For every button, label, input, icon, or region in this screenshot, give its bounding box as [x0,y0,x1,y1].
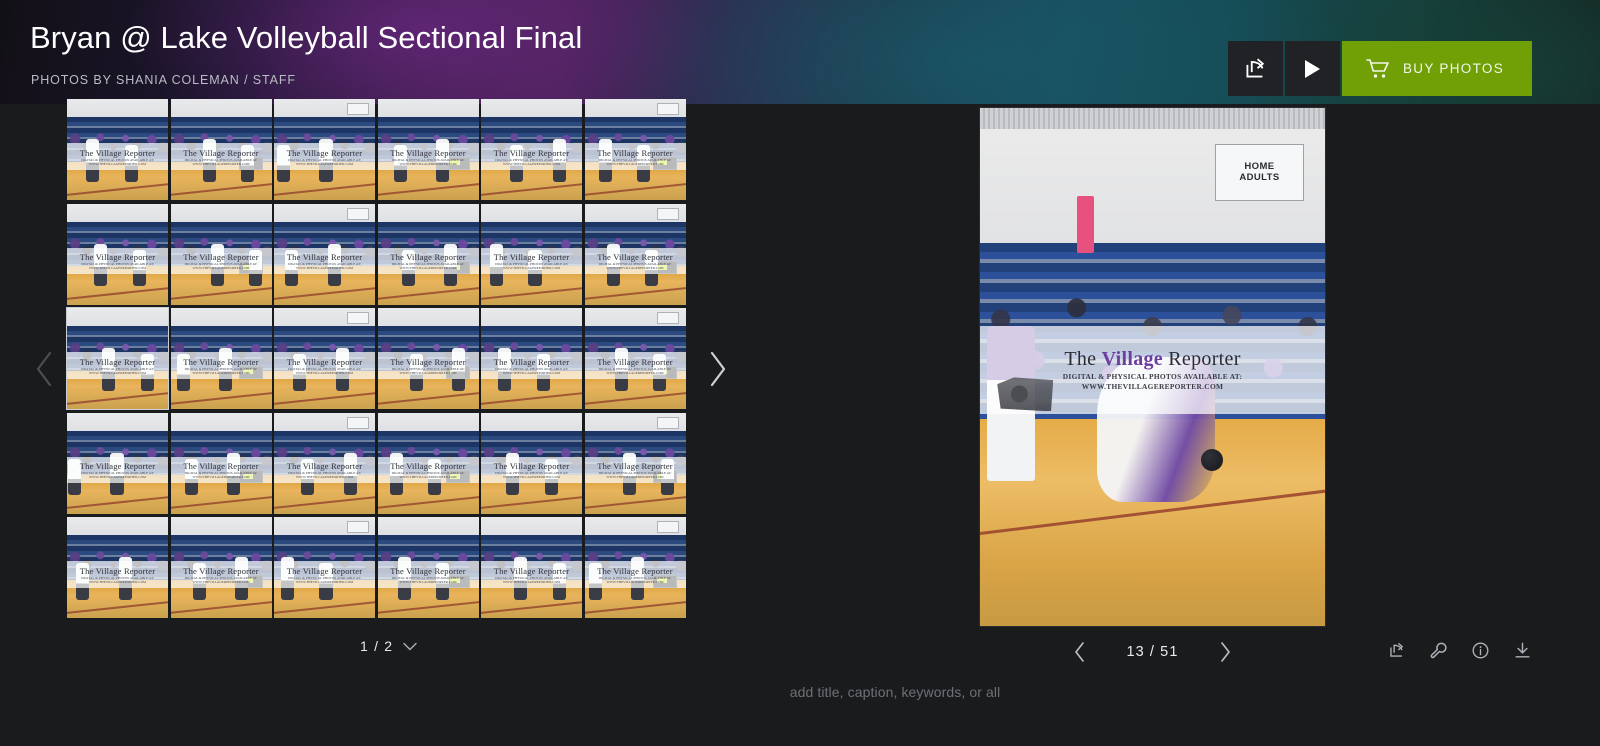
thumbnail-watermark-title: The Village Reporter [80,252,156,262]
thumbnail-watermark-line-2: WWW.THEVILLAGEREPORTER.COM [192,475,249,479]
thumbnail-watermark: The Village ReporterDIGITAL & PHYSICAL P… [274,248,375,274]
thumbnail-watermark: The Village ReporterDIGITAL & PHYSICAL P… [171,352,272,378]
thumbnail-watermark-title: The Village Reporter [597,461,673,471]
thumbnail-23[interactable]: The Village ReporterDIGITAL & PHYSICAL P… [481,413,582,514]
thumbnail-6[interactable]: The Village ReporterDIGITAL & PHYSICAL P… [585,99,686,200]
thumbnail-watermark: The Village ReporterDIGITAL & PHYSICAL P… [378,143,479,169]
header-actions: BUY PHOTOS [1228,41,1532,96]
thumbnail-watermark-line-2: WWW.THEVILLAGEREPORTER.COM [399,266,456,270]
buy-photos-button[interactable]: BUY PHOTOS [1342,41,1532,96]
buy-photos-label: BUY PHOTOS [1403,61,1504,76]
thumbnail-watermark-line-2: WWW.THEVILLAGEREPORTER.COM [503,580,560,584]
thumbnail-watermark: The Village ReporterDIGITAL & PHYSICAL P… [378,457,479,483]
thumbnail-watermark: The Village ReporterDIGITAL & PHYSICAL P… [585,561,686,587]
thumbnail-watermark-title: The Village Reporter [80,148,156,158]
photo-counter: 13 / 51 [1126,644,1178,660]
thumbnail-watermark: The Village ReporterDIGITAL & PHYSICAL P… [67,248,168,274]
thumbnail-watermark: The Village ReporterDIGITAL & PHYSICAL P… [67,457,168,483]
thumbnail-3[interactable]: The Village ReporterDIGITAL & PHYSICAL P… [274,99,375,200]
thumbnail-2[interactable]: The Village ReporterDIGITAL & PHYSICAL P… [171,99,272,200]
thumbnail-watermark-line-2: WWW.THEVILLAGEREPORTER.COM [503,371,560,375]
caption-input[interactable]: add title, caption, keywords, or all [0,684,1600,700]
thumbnail-28[interactable]: The Village ReporterDIGITAL & PHYSICAL P… [378,517,479,618]
thumbnail-watermark-line-2: WWW.THEVILLAGEREPORTER.COM [296,371,353,375]
thumbnail-21[interactable]: The Village ReporterDIGITAL & PHYSICAL P… [274,413,375,514]
thumbnail-watermark: The Village ReporterDIGITAL & PHYSICAL P… [585,457,686,483]
thumbnail-watermark-line-2: WWW.THEVILLAGEREPORTER.COM [399,371,456,375]
thumbnail-watermark-line-2: WWW.THEVILLAGEREPORTER.COM [296,162,353,166]
thumbnail-26[interactable]: The Village ReporterDIGITAL & PHYSICAL P… [171,517,272,618]
thumbnail-watermark-title: The Village Reporter [494,148,570,158]
thumbnail-11[interactable]: The Village ReporterDIGITAL & PHYSICAL P… [481,204,582,305]
thumbnail-watermark-title: The Village Reporter [287,357,363,367]
thumbnail-watermark-line-2: WWW.THEVILLAGEREPORTER.COM [296,475,353,479]
thumbnail-watermark-line-2: WWW.THEVILLAGEREPORTER.COM [606,162,663,166]
grid-prev-page-arrow[interactable] [28,347,62,391]
grid-pager[interactable]: 1 / 2 [360,638,417,654]
sign-line-2: ADULTS [1239,173,1279,184]
thumbnail-watermark-title: The Village Reporter [494,461,570,471]
thumbnail-watermark-title: The Village Reporter [183,252,259,262]
thumbnail-watermark-line-2: WWW.THEVILLAGEREPORTER.COM [192,266,249,270]
share-icon[interactable] [1386,640,1406,660]
thumbnail-watermark-title: The Village Reporter [183,461,259,471]
gallery-page: Bryan @ Lake Volleyball Sectional Final … [0,0,1600,746]
thumbnail-9[interactable]: The Village ReporterDIGITAL & PHYSICAL P… [274,204,375,305]
main-photo[interactable]: HOME ADULTS The Village Reporter DIGITAL… [980,108,1325,626]
info-icon[interactable] [1470,640,1490,660]
thumbnail-watermark-line-2: WWW.THEVILLAGEREPORTER.COM [606,475,663,479]
thumbnail-watermark-line-2: WWW.THEVILLAGEREPORTER.COM [192,580,249,584]
thumbnail-27[interactable]: The Village ReporterDIGITAL & PHYSICAL P… [274,517,375,618]
watermark-logo-icon [997,377,1053,411]
thumbnail-watermark-title: The Village Reporter [597,252,673,262]
thumbnail-20[interactable]: The Village ReporterDIGITAL & PHYSICAL P… [171,413,272,514]
photo-gym-ceiling [980,108,1325,129]
watermark-line-1: DIGITAL & PHYSICAL PHOTOS AVAILABLE AT: [1063,372,1242,381]
watermark-line-2: WWW.THEVILLAGEREPORTER.COM [1082,382,1224,391]
thumbnail-watermark: The Village ReporterDIGITAL & PHYSICAL P… [274,143,375,169]
thumbnail-watermark-line-2: WWW.THEVILLAGEREPORTER.COM [606,580,663,584]
thumbnail-watermark: The Village ReporterDIGITAL & PHYSICAL P… [481,561,582,587]
thumbnail-watermark: The Village ReporterDIGITAL & PHYSICAL P… [274,352,375,378]
thumbnail-watermark-title: The Village Reporter [80,357,156,367]
grid-pager-label: 1 / 2 [360,638,393,654]
thumbnail-watermark-line-2: WWW.THEVILLAGEREPORTER.COM [89,266,146,270]
thumbnail-watermark: The Village ReporterDIGITAL & PHYSICAL P… [274,561,375,587]
thumbnail-watermark-title: The Village Reporter [390,461,466,471]
thumbnail-watermark-title: The Village Reporter [390,148,466,158]
thumbnail-watermark-title: The Village Reporter [390,252,466,262]
thumbnail-watermark-line-2: WWW.THEVILLAGEREPORTER.COM [89,371,146,375]
thumbnail-29[interactable]: The Village ReporterDIGITAL & PHYSICAL P… [481,517,582,618]
thumbnail-16[interactable]: The Village ReporterDIGITAL & PHYSICAL P… [378,308,479,409]
thumbnail-18[interactable]: The Village ReporterDIGITAL & PHYSICAL P… [585,308,686,409]
thumbnail-10[interactable]: The Village ReporterDIGITAL & PHYSICAL P… [378,204,479,305]
thumbnail-watermark-title: The Village Reporter [287,566,363,576]
thumbnail-30[interactable]: The Village ReporterDIGITAL & PHYSICAL P… [585,517,686,618]
thumbnail-5[interactable]: The Village ReporterDIGITAL & PHYSICAL P… [481,99,582,200]
watermark-title-pre: The [1064,348,1101,370]
thumbnail-watermark-title: The Village Reporter [183,357,259,367]
watermark-title-accent: Village [1102,348,1163,370]
shopping-cart-icon [1366,58,1390,79]
thumbnail-watermark: The Village ReporterDIGITAL & PHYSICAL P… [67,561,168,587]
thumbnail-watermark: The Village ReporterDIGITAL & PHYSICAL P… [378,561,479,587]
thumbnail-4[interactable]: The Village ReporterDIGITAL & PHYSICAL P… [378,99,479,200]
photo-prev-button[interactable] [1070,641,1091,663]
thumbnail-watermark: The Village ReporterDIGITAL & PHYSICAL P… [67,352,168,378]
thumbnail-watermark-title: The Village Reporter [494,357,570,367]
thumbnail-15[interactable]: The Village ReporterDIGITAL & PHYSICAL P… [274,308,375,409]
thumbnail-watermark: The Village ReporterDIGITAL & PHYSICAL P… [67,143,168,169]
share-button[interactable] [1228,41,1283,96]
thumbnail-watermark-title: The Village Reporter [390,357,466,367]
thumbnail-watermark: The Village ReporterDIGITAL & PHYSICAL P… [481,352,582,378]
thumbnail-watermark-line-2: WWW.THEVILLAGEREPORTER.COM [606,371,663,375]
photo-tools [1386,640,1532,660]
thumbnail-watermark-line-2: WWW.THEVILLAGEREPORTER.COM [296,580,353,584]
thumbnail-13[interactable]: The Village ReporterDIGITAL & PHYSICAL P… [67,308,168,409]
thumbnail-1[interactable]: The Village ReporterDIGITAL & PHYSICAL P… [67,99,168,200]
slideshow-play-button[interactable] [1285,41,1340,96]
thumbnail-7[interactable]: The Village ReporterDIGITAL & PHYSICAL P… [67,204,168,305]
thumbnail-watermark: The Village ReporterDIGITAL & PHYSICAL P… [378,352,479,378]
photo-volleyball [1201,449,1223,471]
thumbnail-watermark-title: The Village Reporter [287,148,363,158]
thumbnail-watermark-line-2: WWW.THEVILLAGEREPORTER.COM [192,371,249,375]
page-byline: PHOTOS BY SHANIA COLEMAN / STAFF [31,73,296,87]
thumbnail-watermark: The Village ReporterDIGITAL & PHYSICAL P… [481,143,582,169]
thumbnail-12[interactable]: The Village ReporterDIGITAL & PHYSICAL P… [585,204,686,305]
thumbnail-watermark: The Village ReporterDIGITAL & PHYSICAL P… [171,143,272,169]
watermark-title: The Village Reporter [1064,348,1240,371]
watermark-title-post: Reporter [1163,348,1241,370]
photo-navigation: 13 / 51 [1070,638,1235,666]
thumbnail-watermark-line-2: WWW.THEVILLAGEREPORTER.COM [606,266,663,270]
thumbnail-watermark: The Village ReporterDIGITAL & PHYSICAL P… [171,248,272,274]
thumbnail-watermark-title: The Village Reporter [494,566,570,576]
thumbnail-24[interactable]: The Village ReporterDIGITAL & PHYSICAL P… [585,413,686,514]
thumbnail-watermark-title: The Village Reporter [597,357,673,367]
thumbnail-watermark-line-2: WWW.THEVILLAGEREPORTER.COM [89,580,146,584]
thumbnail-watermark-title: The Village Reporter [494,252,570,262]
grid-next-page-arrow[interactable] [700,347,734,391]
thumbnail-watermark-title: The Village Reporter [80,566,156,576]
thumbnail-watermark-line-2: WWW.THEVILLAGEREPORTER.COM [89,162,146,166]
wrench-icon[interactable] [1428,640,1448,660]
thumbnail-watermark-line-2: WWW.THEVILLAGEREPORTER.COM [89,475,146,479]
thumbnail-watermark: The Village ReporterDIGITAL & PHYSICAL P… [274,457,375,483]
thumbnail-watermark-line-2: WWW.THEVILLAGEREPORTER.COM [503,162,560,166]
thumbnail-watermark-line-2: WWW.THEVILLAGEREPORTER.COM [503,266,560,270]
thumbnail-19[interactable]: The Village ReporterDIGITAL & PHYSICAL P… [67,413,168,514]
photo-next-button[interactable] [1214,641,1235,663]
share-icon [1242,56,1268,82]
thumbnail-watermark-line-2: WWW.THEVILLAGEREPORTER.COM [296,266,353,270]
thumbnail-watermark: The Village ReporterDIGITAL & PHYSICAL P… [171,457,272,483]
thumbnail-watermark-line-2: WWW.THEVILLAGEREPORTER.COM [399,580,456,584]
page-header: Bryan @ Lake Volleyball Sectional Final … [0,0,1600,104]
thumbnail-watermark-title: The Village Reporter [287,252,363,262]
thumbnail-watermark-title: The Village Reporter [597,148,673,158]
download-icon[interactable] [1512,640,1532,660]
thumbnail-17[interactable]: The Village ReporterDIGITAL & PHYSICAL P… [481,308,582,409]
thumbnail-watermark-title: The Village Reporter [80,461,156,471]
thumbnail-watermark: The Village ReporterDIGITAL & PHYSICAL P… [481,457,582,483]
thumbnail-watermark: The Village ReporterDIGITAL & PHYSICAL P… [378,248,479,274]
photo-pink-spectator [1077,196,1094,253]
thumbnail-watermark-title: The Village Reporter [183,148,259,158]
thumbnail-watermark-line-2: WWW.THEVILLAGEREPORTER.COM [503,475,560,479]
thumbnail-grid-panel: The Village ReporterDIGITAL & PHYSICAL P… [0,99,760,629]
home-adults-sign: HOME ADULTS [1215,144,1305,201]
chevron-right-icon [706,349,728,389]
thumbnail-watermark-title: The Village Reporter [287,461,363,471]
page-title: Bryan @ Lake Volleyball Sectional Final [30,20,582,56]
thumbnail-watermark: The Village ReporterDIGITAL & PHYSICAL P… [585,352,686,378]
thumbnail-22[interactable]: The Village ReporterDIGITAL & PHYSICAL P… [378,413,479,514]
thumbnail-watermark: The Village ReporterDIGITAL & PHYSICAL P… [585,248,686,274]
thumbnail-watermark: The Village ReporterDIGITAL & PHYSICAL P… [585,143,686,169]
chevron-left-icon [34,349,56,389]
thumbnail-watermark-title: The Village Reporter [597,566,673,576]
thumbnail-watermark-title: The Village Reporter [183,566,259,576]
thumbnail-watermark-title: The Village Reporter [390,566,466,576]
thumbnail-watermark-line-2: WWW.THEVILLAGEREPORTER.COM [192,162,249,166]
thumbnail-watermark: The Village ReporterDIGITAL & PHYSICAL P… [481,248,582,274]
thumbnail-watermark-line-2: WWW.THEVILLAGEREPORTER.COM [399,162,456,166]
play-icon [1303,59,1321,79]
thumbnail-8[interactable]: The Village ReporterDIGITAL & PHYSICAL P… [171,204,272,305]
chevron-down-icon[interactable] [403,642,417,651]
thumbnail-watermark: The Village ReporterDIGITAL & PHYSICAL P… [171,561,272,587]
thumbnail-watermark-line-2: WWW.THEVILLAGEREPORTER.COM [399,475,456,479]
thumbnail-grid: The Village ReporterDIGITAL & PHYSICAL P… [67,99,686,618]
thumbnail-14[interactable]: The Village ReporterDIGITAL & PHYSICAL P… [171,308,272,409]
thumbnail-25[interactable]: The Village ReporterDIGITAL & PHYSICAL P… [67,517,168,618]
